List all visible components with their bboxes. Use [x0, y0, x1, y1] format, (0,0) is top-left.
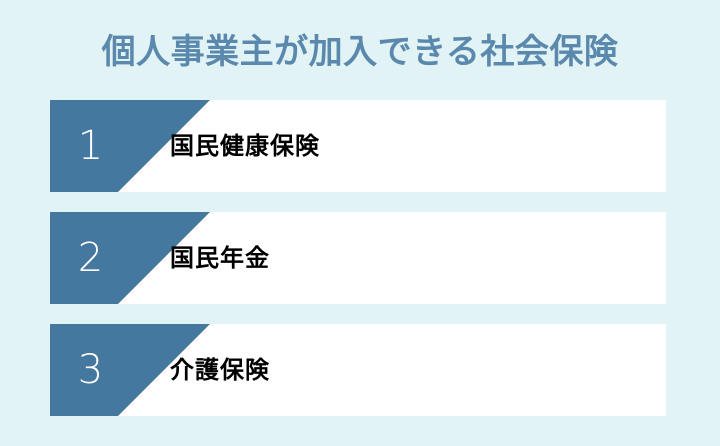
page-title: 個人事業主が加入できる社会保険: [0, 30, 720, 74]
list-item-label: 国民年金: [170, 212, 270, 304]
list-item-label: 国民健康保険: [170, 100, 320, 192]
list-item-label: 介護保険: [170, 324, 270, 416]
list-item: 1 国民健康保険: [50, 100, 666, 192]
infographic-canvas: 個人事業主が加入できる社会保険 1 国民健康保険 2 国民年金 3 介護保険: [0, 0, 720, 446]
insurance-list: 1 国民健康保険 2 国民年金 3 介護保険: [50, 100, 666, 416]
list-item: 3 介護保険: [50, 324, 666, 416]
list-item: 2 国民年金: [50, 212, 666, 304]
